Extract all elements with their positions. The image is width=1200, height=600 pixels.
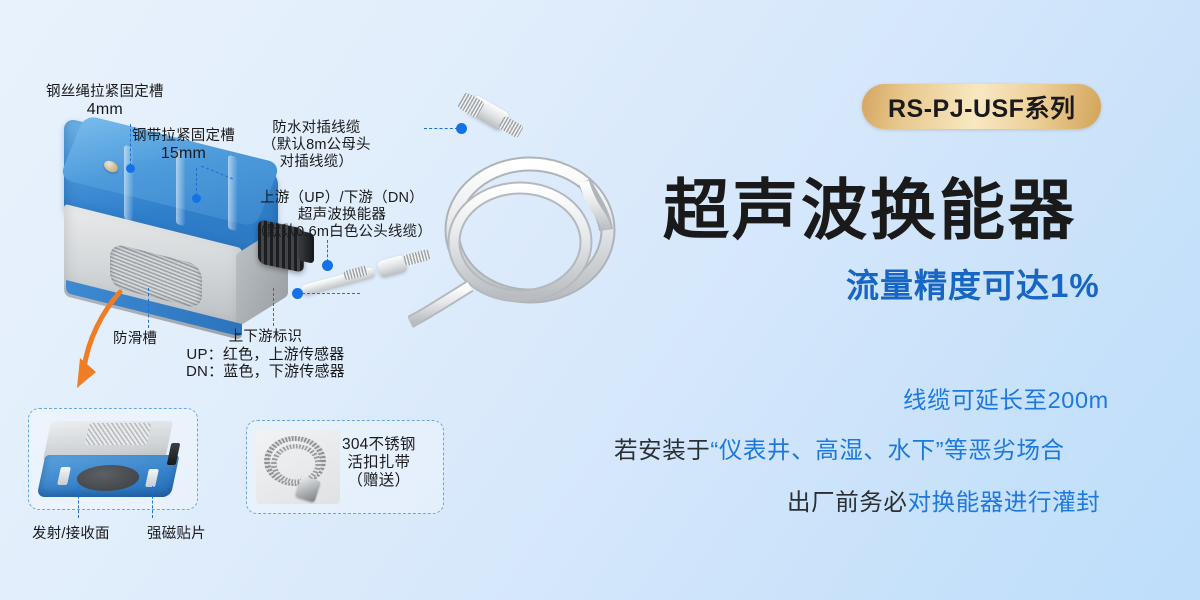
feature-line-harsh-environment: 若安装于“仪表井、高湿、水下”等恶劣场合: [614, 437, 1065, 464]
transducer-cable-line3: （默认0.6m白色公头线缆）: [252, 224, 432, 241]
waterproof-cable-line3: 对插线缆）: [262, 154, 371, 171]
annotation-updn-marking: 上下游标识 UP：红色，上游传感器 DN：蓝色，下游传感器: [186, 329, 345, 381]
steel-band-coil-inner: [271, 444, 321, 484]
harsh-env-prefix: 若安装于: [614, 437, 710, 463]
device-top-rib: [228, 155, 237, 231]
waterproof-cable-line1: 防水对插线缆: [262, 120, 371, 137]
leader-steel-band-slot: [196, 168, 197, 196]
leader-transducer-cable: [327, 240, 328, 262]
waterproof-cable-coil: [408, 90, 648, 330]
harsh-env-highlight: “仪表井、高湿、水下”等恶劣场合: [710, 437, 1064, 463]
updn-title: 上下游标识: [186, 329, 345, 346]
feature-line-potting: 出厂前务必对换能器进行灌封: [787, 489, 1100, 516]
leader-wire-rope-slot: [130, 124, 131, 166]
potting-highlight: 对换能器进行灌封: [908, 489, 1101, 515]
leader-emit-face: [78, 486, 79, 518]
updn-dn-line: DN：蓝色，下游传感器: [186, 363, 345, 380]
leader-updn-marking: [273, 288, 274, 326]
face-photo-illustration: [41, 421, 185, 497]
label-stainless-clamp: 304不锈钢 活扣扎带 （赠送）: [342, 436, 416, 490]
annotation-waterproof-cable: 防水对插线缆 （默认8m公母头 对插线缆）: [262, 120, 371, 170]
face-photo-hatch-panel: [85, 423, 152, 445]
leader-gland-connector: [302, 293, 360, 294]
wire-rope-slot-line2: 4mm: [46, 101, 164, 120]
feature-cable-length-text: 线缆可延长至200m: [903, 387, 1109, 413]
clamp-line2: 活扣扎带: [342, 454, 416, 472]
orange-arrow-icon: [74, 286, 144, 390]
clamp-line3: （赠送）: [342, 472, 416, 490]
updn-up-line: UP：红色，上游传感器: [186, 346, 345, 363]
transducer-cable-line2: 超声波换能器: [252, 207, 432, 224]
annotation-wire-rope-slot: 钢丝绳拉紧固定槽 4mm: [46, 84, 164, 119]
leader-magnet-patch: [152, 486, 153, 518]
steel-band-slot-line2: 15mm: [132, 145, 235, 164]
badge-label: RS-PJ-USF系列: [888, 89, 1075, 125]
hero-subtitle: 流量精度可达1%: [846, 267, 1100, 305]
model-series-badge: RS-PJ-USF系列: [862, 84, 1101, 129]
annotation-transducer-cable: 上游（UP）/下游（DN） 超声波换能器 （默认0.6m白色公头线缆）: [252, 190, 432, 240]
feature-line-cable-length: 线缆可延长至200m: [903, 387, 1109, 414]
waterproof-cable-line2: （默认8m公母头: [262, 137, 371, 154]
product-banner: 钢丝绳拉紧固定槽 4mm 钢带拉紧固定槽 15mm 防水对插线缆 （默认8m公母…: [0, 0, 1200, 600]
potting-prefix: 出厂前务必: [787, 489, 908, 515]
leader-dot-wire-rope-slot: [126, 164, 135, 173]
face-photo-connector: [167, 443, 181, 465]
leader-dot-waterproof-cable: [456, 123, 467, 134]
annotation-steel-band-slot: 钢带拉紧固定槽 15mm: [132, 128, 235, 163]
steel-band-slot-line1: 钢带拉紧固定槽: [132, 128, 235, 145]
transducer-cable-line1: 上游（UP）/下游（DN）: [252, 190, 432, 207]
leader-anti-slip-slot: [148, 288, 149, 328]
label-magnet-patch: 强磁贴片: [147, 526, 206, 543]
inset-face-photo: [28, 408, 198, 510]
wire-rope-slot-line1: 钢丝绳拉紧固定槽: [46, 84, 164, 101]
clamp-photo-illustration: [256, 430, 340, 504]
label-emitting-receiving-surface: 发射/接收面: [32, 526, 110, 543]
leader-dot-steel-band-slot: [192, 194, 201, 203]
clamp-line1: 304不锈钢: [342, 436, 416, 454]
leader-waterproof-cable: [424, 128, 458, 129]
page-title: 超声波换能器: [663, 172, 1077, 249]
leader-dot-transducer-cable: [322, 260, 333, 271]
